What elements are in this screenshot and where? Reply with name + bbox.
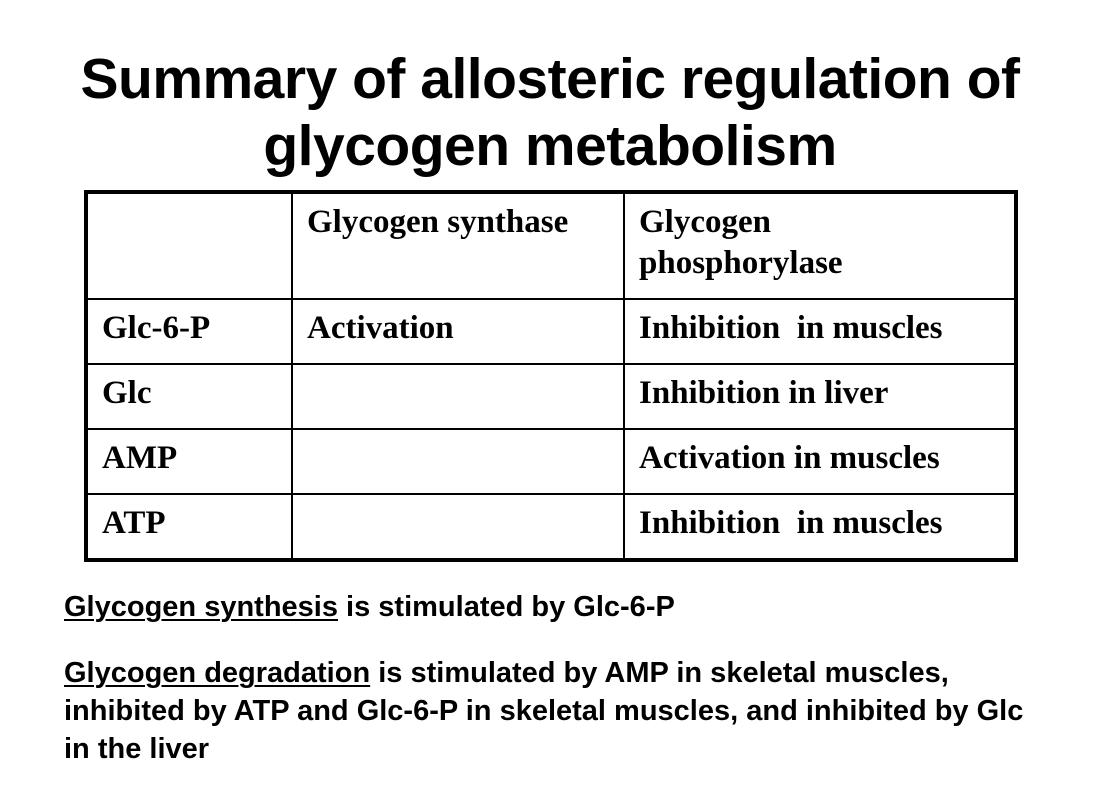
table-header-row: Glycogen synthase Glycogen phosphorylase [86,192,1016,299]
note-term-glycogen-synthesis: Glycogen synthesis [64,591,338,623]
table-cell-synthase-effect [292,494,624,560]
table-row: Glc-6-P Activation Inhibition in muscles [86,299,1016,364]
table-cell-agent: ATP [86,494,292,560]
table-cell-synthase-effect: Activation [292,299,624,364]
note-term-glycogen-degradation: Glycogen degradation [64,657,370,689]
table-cell-phosphorylase-effect: Activation in muscles [624,429,1016,494]
page-title: Summary of allosteric regulation of glyc… [0,46,1100,180]
summary-notes: Glycogen synthesis is stimulated by Glc-… [64,588,1024,768]
table-cell-agent: Glc [86,364,292,429]
table-row: ATP Inhibition in muscles [86,494,1016,560]
table-cell-agent: AMP [86,429,292,494]
table-cell-synthase-effect [292,429,624,494]
table-cell-agent: Glc-6-P [86,299,292,364]
table-cell-phosphorylase-effect: Inhibition in liver [624,364,1016,429]
table-cell-phosphorylase-effect: Inhibition in muscles [624,299,1016,364]
slide-canvas: Summary of allosteric regulation of glyc… [0,0,1100,802]
table-header-cell-glycogen-phosphorylase: Glycogen phosphorylase [624,192,1016,299]
table-header-cell-blank [86,192,292,299]
note-glycogen-degradation: Glycogen degradation is stimulated by AM… [64,654,1024,768]
table-row: AMP Activation in muscles [86,429,1016,494]
regulation-table-container: Glycogen synthase Glycogen phosphorylase… [84,190,1014,562]
table-header-cell-glycogen-synthase: Glycogen synthase [292,192,624,299]
table-cell-phosphorylase-effect: Inhibition in muscles [624,494,1016,560]
table-row: Glc Inhibition in liver [86,364,1016,429]
note-glycogen-synthesis: Glycogen synthesis is stimulated by Glc-… [64,588,1024,626]
regulation-table: Glycogen synthase Glycogen phosphorylase… [84,190,1018,562]
table-cell-synthase-effect [292,364,624,429]
note-body-glycogen-synthesis: is stimulated by Glc-6-P [338,591,675,623]
